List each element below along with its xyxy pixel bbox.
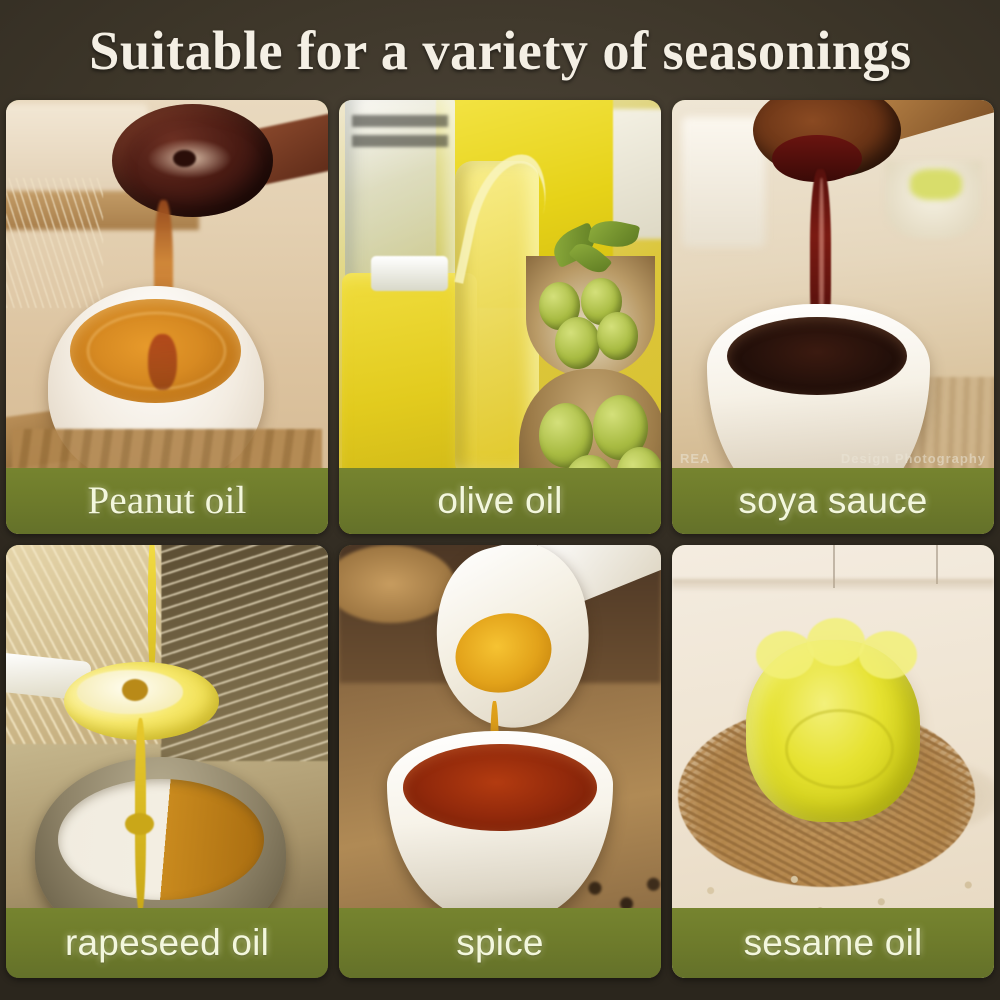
sesame-oil-label-bar: sesame oil (672, 908, 994, 978)
page-title: Suitable for a variety of seasonings (89, 19, 911, 82)
sesame-oil-label: sesame oil (744, 922, 923, 964)
seasoning-card-spice[interactable]: spice (339, 545, 661, 979)
spice-label-bar: spice (339, 908, 661, 978)
poster-title-bar: Suitable for a variety of seasonings (0, 10, 1000, 90)
rapeseed-oil-label: rapeseed oil (65, 922, 269, 964)
soya-sauce-label: soya sauce (738, 480, 927, 522)
seasoning-card-rapeseed-oil[interactable]: rapeseed oil (6, 545, 328, 979)
peanut-oil-label: Peanut oil (87, 478, 246, 523)
soya-sauce-label-bar: soya sauce (672, 468, 994, 534)
rapeseed-oil-label-bar: rapeseed oil (6, 908, 328, 978)
olive-oil-label-bar: olive oil (339, 468, 661, 534)
seasoning-card-peanut-oil[interactable]: Peanut oil (6, 100, 328, 534)
peanut-oil-label-bar: Peanut oil (6, 468, 328, 534)
seasoning-card-olive-oil[interactable]: olive oil (339, 100, 661, 534)
seasoning-card-soya-sauce[interactable]: REA Design Photography soya sauce (672, 100, 994, 534)
olive-oil-label: olive oil (437, 480, 562, 522)
seasonings-poster: Suitable for a variety of seasonings Pea… (0, 0, 1000, 1000)
seasoning-card-sesame-oil[interactable]: sesame oil (672, 545, 994, 979)
seasoning-grid: Peanut oil olive oil (6, 100, 994, 978)
spice-label: spice (456, 922, 543, 964)
